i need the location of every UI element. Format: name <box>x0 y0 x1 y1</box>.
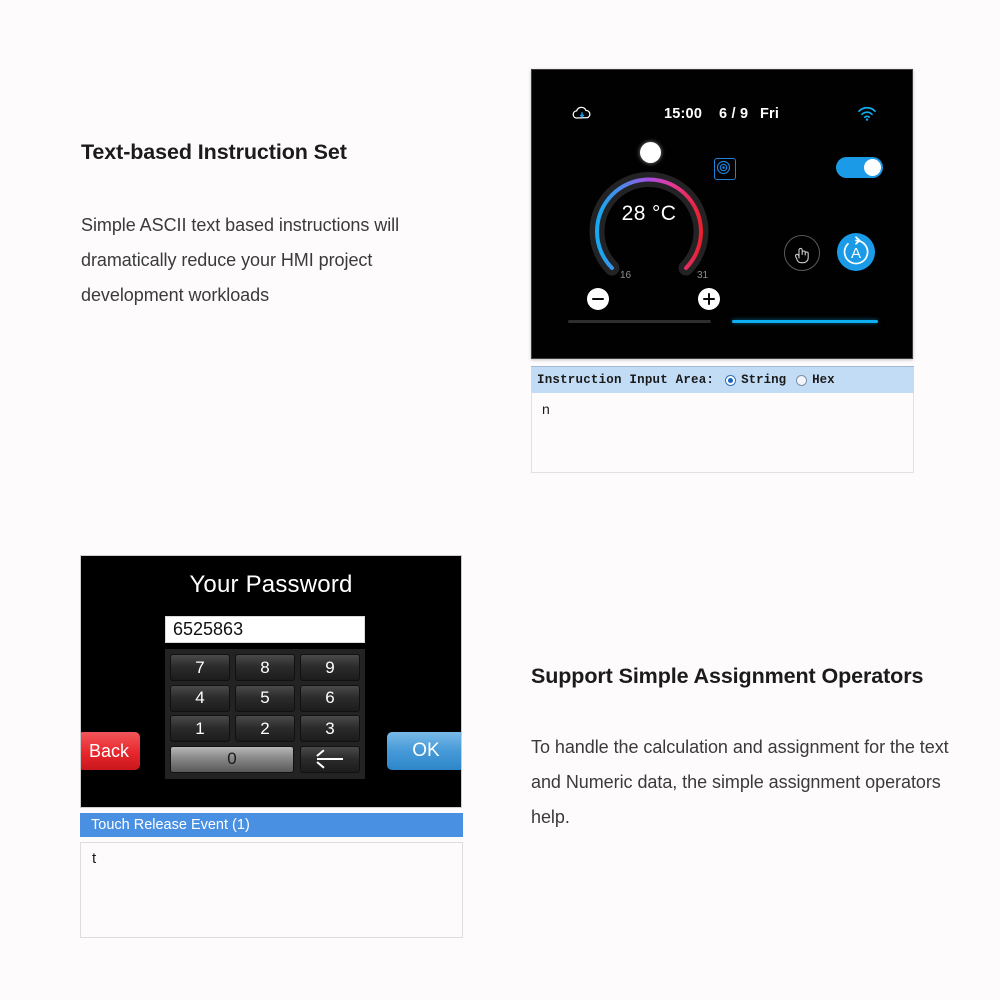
keypad-key-0[interactable]: 0 <box>170 746 294 773</box>
dial-knob-handle[interactable] <box>640 142 661 163</box>
status-time: 15:00 <box>664 106 702 122</box>
keypad-row: 4 5 6 <box>170 685 360 712</box>
radio-hex-indicator[interactable] <box>796 375 807 386</box>
svg-text:A: A <box>851 245 861 262</box>
fan-target-icon[interactable] <box>714 158 736 180</box>
hand-touch-icon[interactable] <box>784 235 820 271</box>
keypad-row: 0 <box>170 746 360 773</box>
backspace-arrow-icon[interactable] <box>300 746 360 773</box>
feature-body-text-instruction-set: Simple ASCII text based instructions wil… <box>81 208 471 313</box>
wifi-icon <box>857 106 877 122</box>
keypad-row: 7 8 9 <box>170 654 360 681</box>
radio-string-indicator[interactable] <box>725 375 736 386</box>
dial-max-label: 31 <box>697 270 708 281</box>
radio-option-hex[interactable]: Hex <box>796 373 835 387</box>
keypad-key-4[interactable]: 4 <box>170 685 230 712</box>
temperature-dial[interactable]: 28 °C <box>582 150 716 284</box>
status-date: 6 / 9 <box>719 106 748 122</box>
ok-button[interactable]: OK <box>387 732 462 770</box>
minus-circle-icon[interactable] <box>587 288 609 310</box>
numeric-keypad: 7 8 9 4 5 6 1 2 3 0 <box>165 649 365 779</box>
radio-option-string[interactable]: String <box>725 373 786 387</box>
feature-body-assignment-operators: To handle the calculation and assignment… <box>531 730 951 835</box>
slider-track-right[interactable] <box>732 320 878 323</box>
keypad-key-3[interactable]: 3 <box>300 715 360 742</box>
instruction-input-label: Instruction Input Area: <box>537 373 714 387</box>
dial-min-label: 16 <box>620 270 631 281</box>
keypad-key-7[interactable]: 7 <box>170 654 230 681</box>
keypad-key-1[interactable]: 1 <box>170 715 230 742</box>
backspace-arrow-glyph <box>317 758 343 760</box>
status-day: Fri <box>760 106 779 122</box>
keypad-key-8[interactable]: 8 <box>235 654 295 681</box>
keypad-key-9[interactable]: 9 <box>300 654 360 681</box>
feature-heading-text-instruction-set: Text-based Instruction Set <box>81 136 501 168</box>
radio-hex-label: Hex <box>812 373 835 387</box>
format-radio-group: String Hex <box>725 373 845 387</box>
touch-release-event-textarea[interactable]: t <box>80 842 463 938</box>
touch-release-event-bar: Touch Release Event (1) <box>80 813 463 837</box>
dial-temperature-value: 28 °C <box>582 202 716 226</box>
keypad-row: 1 2 3 <box>170 715 360 742</box>
slider-track-left[interactable] <box>568 320 711 323</box>
keypad-key-6[interactable]: 6 <box>300 685 360 712</box>
radio-string-label: String <box>741 373 786 387</box>
keypad-key-2[interactable]: 2 <box>235 715 295 742</box>
thermostat-screen-panel: 15:00 6 / 9 Fri <box>531 69 913 359</box>
password-screen-panel: Your Password 6525863 7 8 9 4 5 6 1 2 3 … <box>80 555 462 808</box>
auto-mode-icon[interactable]: A <box>837 233 875 271</box>
instruction-input-textarea[interactable]: n <box>531 393 914 473</box>
cloud-download-icon <box>571 106 593 124</box>
plus-circle-icon[interactable] <box>698 288 720 310</box>
instruction-input-bar: Instruction Input Area: String Hex <box>531 366 914 393</box>
feature-heading-assignment-operators: Support Simple Assignment Operators <box>531 660 931 692</box>
password-title: Your Password <box>81 571 461 599</box>
password-input-field[interactable]: 6525863 <box>165 616 365 643</box>
keypad-key-5[interactable]: 5 <box>235 685 295 712</box>
power-toggle-switch[interactable] <box>836 157 883 178</box>
page-root: Text-based Instruction Set Simple ASCII … <box>0 0 1000 1000</box>
toggle-knob <box>864 159 881 176</box>
back-button[interactable]: Back <box>80 732 140 770</box>
